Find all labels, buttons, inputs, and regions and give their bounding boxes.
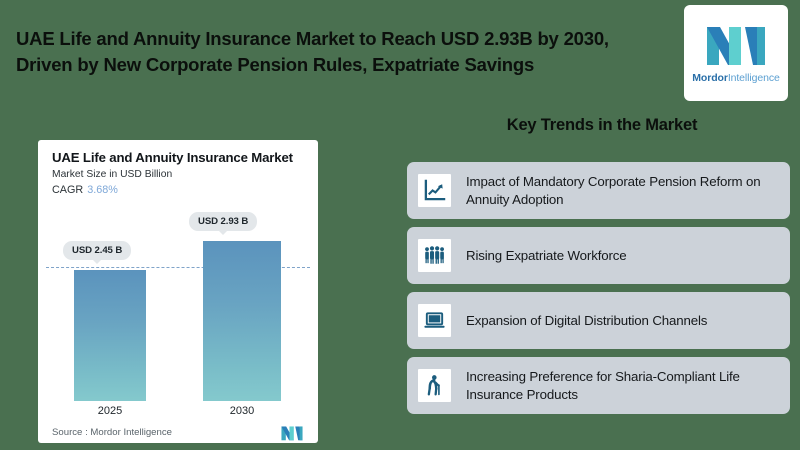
bar-2025	[74, 270, 146, 401]
trend-card-expatriate-workforce[interactable]: Rising Expatriate Workforce	[407, 227, 790, 284]
cagr-value: 3.68%	[87, 184, 118, 196]
brand-word-primary: Mordor	[692, 72, 728, 84]
chart-title: UAE Life and Annuity Insurance Market	[52, 150, 310, 165]
cagr-label: CAGR	[52, 184, 83, 196]
people-group-icon	[418, 239, 451, 272]
chart-plot-area: USD 2.45 B USD 2.93 B	[38, 206, 318, 401]
trend-card-sharia-compliant[interactable]: Increasing Preference for Sharia-Complia…	[407, 357, 790, 414]
x-axis-label-2025: 2025	[74, 405, 146, 417]
x-axis-label-2030: 2030	[203, 405, 281, 417]
trends-heading: Key Trends in the Market	[414, 116, 790, 135]
brand-logo: MordorIntelligence	[684, 5, 788, 101]
brand-word-secondary: Intelligence	[728, 72, 780, 84]
trend-card-digital-distribution[interactable]: Expansion of Digital Distribution Channe…	[407, 292, 790, 349]
growth-chart-icon	[418, 174, 451, 207]
trend-label: Increasing Preference for Sharia-Complia…	[466, 368, 778, 403]
chart-subtitle: Market Size in USD Billion	[52, 169, 172, 180]
trends-list: Impact of Mandatory Corporate Pension Re…	[407, 162, 790, 414]
mordor-m-mark-icon	[278, 425, 306, 441]
elderly-person-cane-icon	[418, 369, 451, 402]
chart-source-text: Source : Mordor Intelligence	[52, 427, 172, 438]
bar-label-2030: USD 2.93 B	[189, 212, 257, 231]
laptop-icon	[418, 304, 451, 337]
brand-wordmark: MordorIntelligence	[692, 72, 779, 84]
bar-2030	[203, 241, 281, 401]
trend-label: Impact of Mandatory Corporate Pension Re…	[466, 173, 778, 208]
trend-label: Rising Expatriate Workforce	[466, 247, 627, 265]
mordor-m-logo-icon	[705, 23, 767, 67]
bar-label-2025: USD 2.45 B	[63, 241, 131, 260]
trend-card-pension-reform[interactable]: Impact of Mandatory Corporate Pension Re…	[407, 162, 790, 219]
header: UAE Life and Annuity Insurance Market to…	[0, 0, 800, 108]
cagr-row: CAGR3.68%	[52, 184, 118, 196]
page-title: UAE Life and Annuity Insurance Market to…	[16, 26, 666, 79]
trend-label: Expansion of Digital Distribution Channe…	[466, 312, 707, 330]
chart-card: UAE Life and Annuity Insurance Market Ma…	[38, 140, 318, 443]
